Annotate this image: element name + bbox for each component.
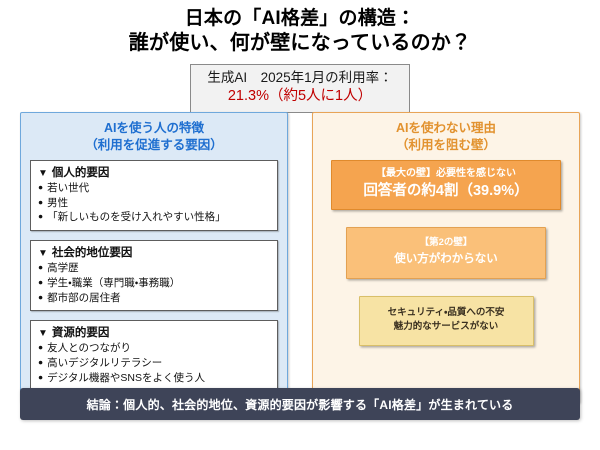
barrier-primary-rank-label: 【最大の壁】必要性を感じない (338, 167, 554, 181)
bullet-icon: ● (38, 292, 43, 302)
title-block: 日本の「AI格差」の構造： 誰が使い、何が壁になっているのか？ (0, 0, 600, 57)
panel-ai-users-heading-line2: （利用を促進する要因） (30, 137, 278, 154)
factor-item: ●デジタル機器やSNSをよく使う人 (38, 371, 270, 386)
factor-card-social-status-title: ▼社会的地位要因 (38, 245, 270, 261)
bullet-icon: ● (38, 372, 43, 382)
barrier-primary-detail: 回答者の約4割（39.9%） (338, 181, 554, 201)
panel-ai-users-heading-line1: AIを使う人の特徴 (30, 120, 278, 137)
caret-down-icon: ▼ (38, 168, 48, 179)
factor-item-text: 若い世代 (47, 182, 89, 194)
panel-ai-non-users-heading-line1: AIを使わない理由 (396, 120, 496, 137)
barrier-box-primary[interactable]: 【最大の壁】必要性を感じない 回答者の約4割（39.9%） (331, 160, 561, 210)
factor-card-resources[interactable]: ▼資源的要因 ●友人とのつながり ●高いデジタルリテラシー ●デジタル機器やSN… (30, 320, 278, 391)
bullet-icon: ● (38, 211, 43, 221)
barrier-secondary-rank-label: 【第2の壁】 (353, 236, 539, 250)
factor-item: ●男性 (38, 196, 270, 211)
factor-item: ●若い世代 (38, 181, 270, 196)
bullet-icon: ● (38, 277, 43, 287)
caret-down-icon: ▼ (38, 328, 48, 339)
factor-item-text: 高学歴 (47, 262, 79, 274)
factor-card-personal[interactable]: ▼個人的要因 ●若い世代 ●男性 ●「新しいものを受け入れやすい性格」 (30, 160, 278, 231)
panel-ai-non-users: AIを使わない理由 （利用を阻む壁） 【最大の壁】必要性を感じない 回答者の約4… (312, 112, 580, 403)
factor-item-text: 都市部の居住者 (47, 292, 121, 304)
bullet-icon: ● (38, 342, 43, 352)
factor-item-text: 高いデジタルリテラシー (47, 357, 162, 369)
slide-canvas: 日本の「AI格差」の構造： 誰が使い、何が壁になっているのか？ 生成AI 202… (0, 0, 600, 450)
conclusion-banner: 結論：個人的、社会的地位、資源的要因が影響する「AI格差」が生まれている (20, 388, 580, 420)
barrier-box-other[interactable]: セキュリティ・品質への不安 魅力的なサービスがない (359, 296, 534, 347)
two-column-area: AIを使う人の特徴 （利用を促進する要因） ▼個人的要因 ●若い世代 ●男性 ●… (0, 112, 600, 403)
bullet-icon: ● (38, 182, 43, 192)
factor-item-text: 「新しいものを受け入れやすい性格」 (47, 211, 226, 223)
stat-callout-wrapper: 生成AI 2025年1月の利用率： 21.3%（約5人に1人） (0, 64, 600, 113)
caret-down-icon: ▼ (38, 248, 48, 259)
factor-card-personal-title-text: 個人的要因 (52, 167, 110, 179)
usage-rate-label: 生成AI 2025年1月の利用率： (207, 69, 392, 87)
factor-item: ●都市部の居住者 (38, 291, 270, 306)
factor-item-text: 男性 (47, 197, 68, 209)
barrier-other-line2: 魅力的なサービスがない (366, 320, 527, 334)
panel-ai-non-users-heading-line2: （利用を阻む壁） (396, 137, 496, 154)
factor-item: ●「新しいものを受け入れやすい性格」 (38, 210, 270, 225)
factor-item: ●友人とのつながり (38, 341, 270, 356)
barrier-other-line1: セキュリティ・品質への不安 (366, 306, 527, 320)
factor-item-text: 友人とのつながり (47, 342, 131, 354)
factor-item-text: 学生・職業（専門職・事務職） (47, 277, 180, 289)
factor-item: ●学生・職業（専門職・事務職） (38, 276, 270, 291)
factor-card-social-status[interactable]: ▼社会的地位要因 ●高学歴 ●学生・職業（専門職・事務職） ●都市部の居住者 (30, 240, 278, 311)
factor-item: ●高いデジタルリテラシー (38, 356, 270, 371)
bullet-icon: ● (38, 357, 43, 367)
bullet-icon: ● (38, 197, 43, 207)
usage-rate-value: 21.3%（約5人に1人） (207, 87, 392, 107)
panel-ai-users-heading: AIを使う人の特徴 （利用を促進する要因） (30, 120, 278, 153)
barrier-secondary-detail: 使い方がわからない (353, 251, 539, 268)
factor-item-text: デジタル機器やSNSをよく使う人 (47, 372, 205, 384)
factor-card-personal-title: ▼個人的要因 (38, 165, 270, 181)
factor-card-social-status-title-text: 社会的地位要因 (52, 247, 133, 259)
factor-card-resources-title-text: 資源的要因 (52, 327, 110, 339)
barrier-box-secondary[interactable]: 【第2の壁】 使い方がわからない (346, 227, 546, 279)
title-line-2: 誰が使い、何が壁になっているのか？ (0, 31, 600, 57)
conclusion-text: 結論：個人的、社会的地位、資源的要因が影響する「AI格差」が生まれている (87, 396, 514, 413)
usage-rate-callout: 生成AI 2025年1月の利用率： 21.3%（約5人に1人） (190, 64, 409, 113)
bullet-icon: ● (38, 262, 43, 272)
factor-card-resources-title: ▼資源的要因 (38, 325, 270, 341)
panel-ai-non-users-heading: AIを使わない理由 （利用を阻む壁） (396, 120, 496, 153)
panel-ai-users: AIを使う人の特徴 （利用を促進する要因） ▼個人的要因 ●若い世代 ●男性 ●… (20, 112, 288, 403)
title-line-1: 日本の「AI格差」の構造： (0, 7, 600, 31)
factor-item: ●高学歴 (38, 261, 270, 276)
